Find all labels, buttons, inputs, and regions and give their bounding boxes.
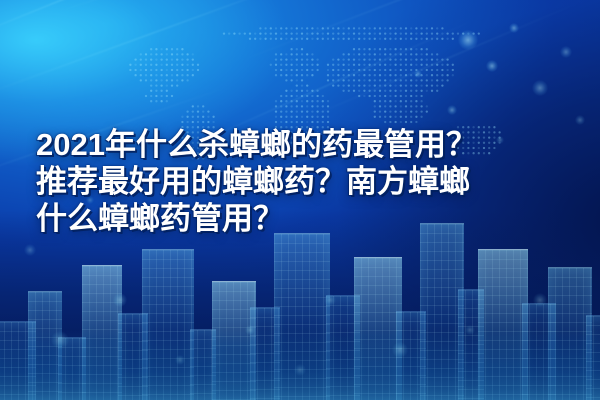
banner-image: 2021年什么杀蟑螂的药最管用？推荐最好用的蟑螂药？南方蟑螂什么蟑螂药管用？ bbox=[0, 0, 600, 400]
headline-text: 2021年什么杀蟑螂的药最管用？推荐最好用的蟑螂药？南方蟑螂什么蟑螂药管用？ bbox=[36, 126, 486, 237]
